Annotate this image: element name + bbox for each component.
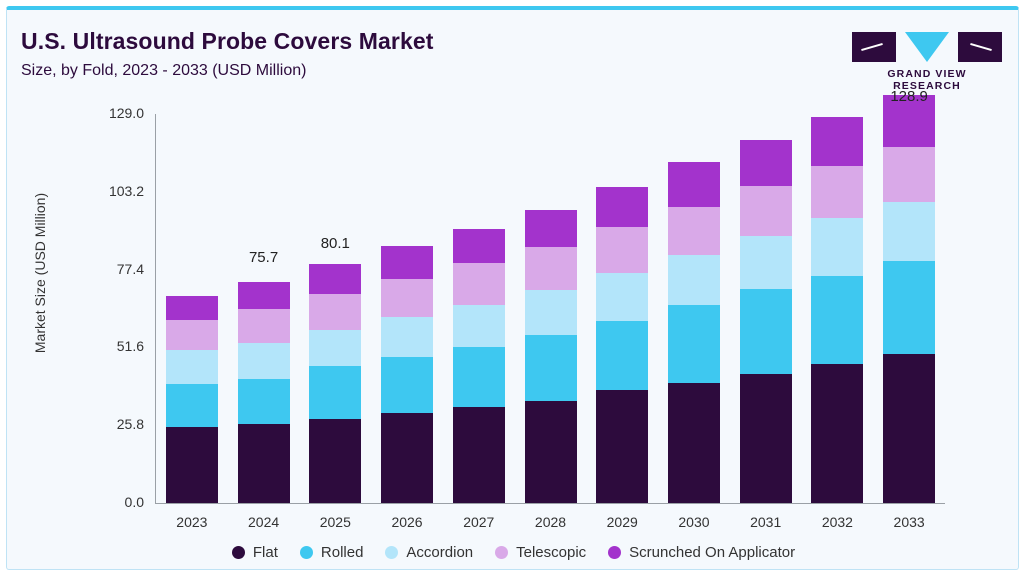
x-tick-label: 2027	[444, 514, 514, 530]
bar-segment[interactable]	[740, 289, 792, 374]
bar-segment[interactable]	[166, 350, 218, 384]
legend-label: Scrunched On Applicator	[629, 544, 795, 561]
bar-segment[interactable]	[238, 379, 290, 424]
legend-label: Rolled	[321, 544, 364, 561]
x-tick-label: 2025	[300, 514, 370, 530]
bar-group[interactable]	[596, 114, 648, 503]
bar-segment[interactable]	[596, 187, 648, 227]
bar-segment[interactable]	[453, 229, 505, 264]
bar-segment[interactable]	[668, 383, 720, 503]
bar-segment[interactable]	[166, 320, 218, 350]
bar-segment[interactable]	[596, 390, 648, 503]
bar-segment[interactable]	[525, 210, 577, 247]
bar-segment[interactable]	[883, 354, 935, 503]
x-tick-label: 2026	[372, 514, 442, 530]
plot-area: Market Size (USD Million) 0.025.851.677.…	[7, 10, 1020, 574]
bar-segment[interactable]	[883, 147, 935, 203]
x-tick-label: 2029	[587, 514, 657, 530]
bar-segment[interactable]	[811, 218, 863, 276]
bar-segment[interactable]	[596, 273, 648, 321]
bar-segment[interactable]	[525, 247, 577, 290]
x-tick-label: 2028	[516, 514, 586, 530]
bar-segment[interactable]	[381, 246, 433, 279]
legend-item[interactable]: Accordion	[385, 544, 473, 561]
bar-segment[interactable]	[453, 263, 505, 304]
bar-segment[interactable]	[453, 305, 505, 347]
legend-label: Telescopic	[516, 544, 586, 561]
legend: FlatRolledAccordionTelescopicScrunched O…	[7, 544, 1020, 561]
bar-segment[interactable]	[309, 294, 361, 330]
bar-segment[interactable]	[668, 207, 720, 254]
bar-group[interactable]	[525, 114, 577, 503]
y-tick-label: 129.0	[84, 105, 144, 121]
bar-segment[interactable]	[811, 276, 863, 364]
x-axis-line	[155, 503, 945, 504]
y-tick-label: 25.8	[84, 416, 144, 432]
x-tick-label: 2031	[731, 514, 801, 530]
bar-value-label: 75.7	[224, 249, 304, 266]
bar-group[interactable]	[740, 114, 792, 503]
bar-segment[interactable]	[309, 264, 361, 294]
bar-segment[interactable]	[811, 117, 863, 166]
legend-item[interactable]: Telescopic	[495, 544, 586, 561]
bar-group[interactable]	[453, 114, 505, 503]
x-tick-label: 2033	[874, 514, 944, 530]
bar-segment[interactable]	[740, 374, 792, 503]
bar-segment[interactable]	[740, 186, 792, 236]
bar-segment[interactable]	[596, 321, 648, 390]
y-tick-label: 103.2	[84, 183, 144, 199]
bar-value-label: 128.9	[869, 88, 949, 105]
bar-segment[interactable]	[453, 347, 505, 407]
bar-segment[interactable]	[381, 357, 433, 414]
bar-segment[interactable]	[238, 282, 290, 310]
bar-segment[interactable]	[381, 413, 433, 503]
bar-group[interactable]	[668, 114, 720, 503]
bar-segment[interactable]	[525, 335, 577, 400]
bar-segment[interactable]	[309, 419, 361, 503]
legend-item[interactable]: Rolled	[300, 544, 364, 561]
bar-segment[interactable]	[453, 407, 505, 503]
legend-label: Accordion	[406, 544, 473, 561]
bar-segment[interactable]	[883, 261, 935, 354]
legend-swatch-icon	[495, 546, 508, 559]
x-tick-label: 2024	[229, 514, 299, 530]
bar-segment[interactable]	[166, 384, 218, 427]
bar-segment[interactable]	[668, 305, 720, 383]
legend-swatch-icon	[300, 546, 313, 559]
bar-group[interactable]	[883, 114, 935, 503]
bar-group[interactable]	[309, 114, 361, 503]
x-tick-label: 2023	[157, 514, 227, 530]
x-tick-label: 2030	[659, 514, 729, 530]
bar-segment[interactable]	[309, 330, 361, 367]
y-tick-label: 77.4	[84, 261, 144, 277]
bar-segment[interactable]	[238, 343, 290, 379]
bar-group[interactable]	[381, 114, 433, 503]
bar-segment[interactable]	[596, 227, 648, 273]
bar-segment[interactable]	[525, 401, 577, 503]
bar-value-label: 80.1	[295, 235, 375, 252]
bar-group[interactable]	[166, 114, 218, 503]
legend-label: Flat	[253, 544, 278, 561]
legend-item[interactable]: Flat	[232, 544, 278, 561]
x-tick-label: 2032	[802, 514, 872, 530]
bar-segment[interactable]	[238, 309, 290, 343]
bar-segment[interactable]	[381, 317, 433, 357]
bar-segment[interactable]	[166, 427, 218, 503]
bar-segment[interactable]	[238, 424, 290, 503]
chart-card: U.S. Ultrasound Probe Covers Market Size…	[6, 6, 1019, 570]
y-tick-label: 51.6	[84, 338, 144, 354]
legend-swatch-icon	[608, 546, 621, 559]
bar-segment[interactable]	[883, 202, 935, 261]
y-axis-title: Market Size (USD Million)	[32, 148, 48, 398]
bar-segment[interactable]	[811, 166, 863, 218]
bar-segment[interactable]	[525, 290, 577, 336]
bar-segment[interactable]	[740, 140, 792, 186]
bar-segment[interactable]	[166, 296, 218, 320]
bar-segment[interactable]	[309, 366, 361, 419]
bar-group[interactable]	[811, 114, 863, 503]
bar-segment[interactable]	[740, 236, 792, 289]
bar-segment[interactable]	[381, 279, 433, 317]
legend-swatch-icon	[232, 546, 245, 559]
bar-segment[interactable]	[811, 364, 863, 503]
bar-group[interactable]	[238, 114, 290, 503]
bar-segment[interactable]	[668, 162, 720, 207]
y-tick-label: 0.0	[84, 494, 144, 510]
legend-swatch-icon	[385, 546, 398, 559]
y-axis-line	[155, 114, 156, 503]
legend-item[interactable]: Scrunched On Applicator	[608, 544, 795, 561]
bar-segment[interactable]	[668, 255, 720, 306]
